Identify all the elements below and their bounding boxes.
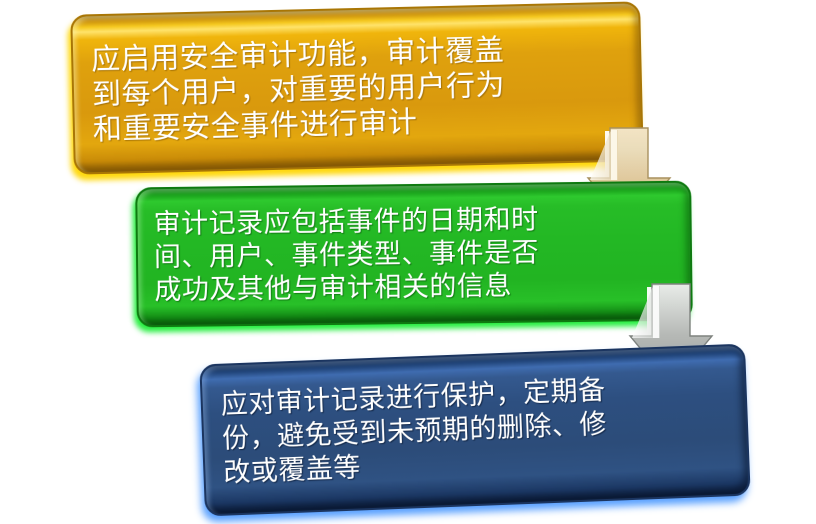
process-step-orange-text: 应启用安全审计功能，审计覆盖 到每个用户，对重要的用户行为 和重要安全事件进行审… [70,1,644,174]
process-step-blue-text: 应对审计记录进行保护，定期备 份，避免受到未预期的删除、修 改或覆盖等 [199,344,750,517]
process-step-blue[interactable]: 应对审计记录进行保护，定期备 份，避免受到未预期的删除、修 改或覆盖等 [199,344,750,517]
text-line: 成功及其他与审计相关的信息 [154,267,692,307]
process-step-green[interactable]: 审计记录应包括事件的日期和时 间、用户、事件类型、事件是否 成功及其他与审计相关… [135,181,693,328]
diagram-canvas: 应启用安全审计功能，审计覆盖 到每个用户，对重要的用户行为 和重要安全事件进行审… [0,0,816,524]
process-step-orange[interactable]: 应启用安全审计功能，审计覆盖 到每个用户，对重要的用户行为 和重要安全事件进行审… [70,1,644,174]
process-step-green-text: 审计记录应包括事件的日期和时 间、用户、事件类型、事件是否 成功及其他与审计相关… [135,181,693,328]
